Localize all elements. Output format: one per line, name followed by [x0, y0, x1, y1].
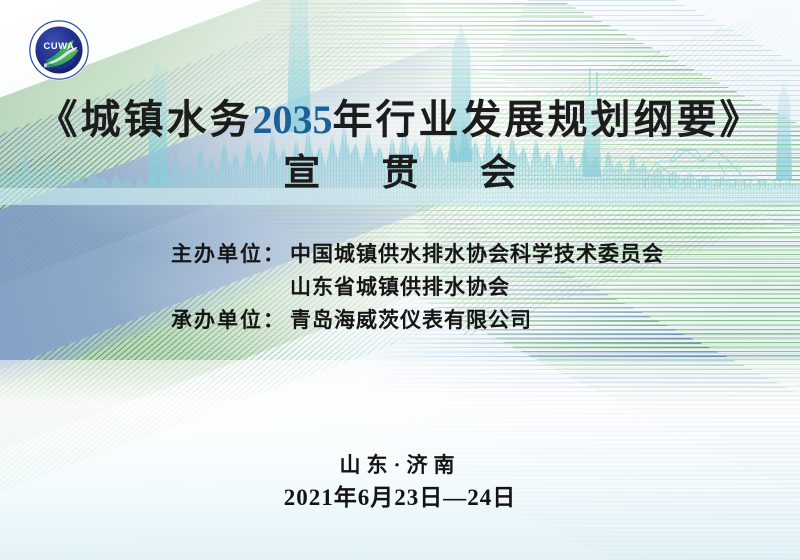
organizer-value: 山东省城镇供排水协会 — [290, 271, 510, 304]
title-open-bracket: 《 — [38, 97, 81, 142]
svg-text:CUWA: CUWA — [44, 41, 75, 51]
title-close-bracket: 》 — [720, 97, 763, 142]
event-footer: 山东·济南 2021年6月23日—24日 — [0, 450, 800, 514]
organizer-value: 青岛海威茨仪表有限公司 — [290, 304, 532, 337]
title-part-one: 城镇水务 — [81, 97, 253, 142]
page-subtitle: 宣 贯 会 — [0, 151, 800, 197]
event-city: 山东·济南 — [0, 450, 800, 481]
title-year: 2035 — [253, 97, 333, 142]
conference-poster: CUWA CHINA URBAN WATER ASSOCIATION 中国城镇供… — [0, 0, 800, 560]
organizer-row: 主办单位： 中国城镇供水排水协会科学技术委员会 — [0, 238, 800, 271]
poster-content: CUWA CHINA URBAN WATER ASSOCIATION 中国城镇供… — [0, 0, 800, 560]
organizer-block: 主办单位： 中国城镇供水排水协会科学技术委员会 山东省城镇供排水协会 承办单位：… — [0, 238, 800, 337]
organizer-row: 承办单位： 青岛海威茨仪表有限公司 — [0, 304, 800, 337]
title-part-two: 年行业发展规划纲要 — [333, 97, 720, 142]
organizer-label: 主办单位： — [0, 238, 290, 271]
organizer-value: 中国城镇供水排水协会科学技术委员会 — [290, 238, 664, 271]
organizer-label — [0, 271, 290, 304]
event-dates: 2021年6月23日—24日 — [0, 481, 800, 514]
organizer-label: 承办单位： — [0, 304, 290, 337]
page-title: 《城镇水务2035年行业发展规划纲要》 — [0, 96, 800, 144]
cuwa-emblem-icon: CUWA CHINA URBAN WATER ASSOCIATION 中国城镇供… — [28, 19, 90, 81]
organizer-row: 山东省城镇供排水协会 — [0, 271, 800, 304]
